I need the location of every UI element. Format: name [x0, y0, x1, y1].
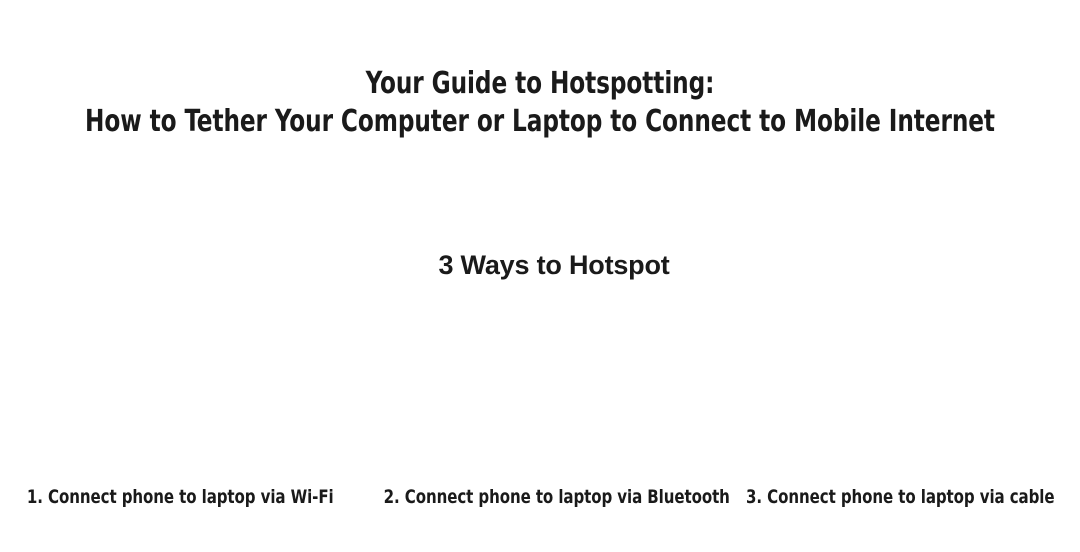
figure-caption-bluetooth: 2. Connect phone to laptop via Bluetooth — [384, 486, 730, 508]
caption-cell-3: 3. Connect phone to laptop via cable — [720, 486, 1080, 508]
article-body: Your Guide to Hotspotting: How to Tether… — [0, 0, 1080, 552]
figure-row — [0, 290, 1080, 480]
section-heading: 3 Ways to Hotspot — [0, 249, 1080, 281]
figure-image-bluetooth — [360, 290, 720, 480]
caption-row: 1. Connect phone to laptop via Wi-Fi 2. … — [0, 486, 1080, 508]
figure-cell-3 — [720, 290, 1080, 480]
figure-cell-2 — [360, 290, 720, 480]
page-title-line-2: How to Tether Your Computer or Laptop to… — [76, 103, 1005, 141]
figure-cell-1 — [0, 290, 360, 480]
figure-caption-cable: 3. Connect phone to laptop via cable — [746, 486, 1054, 508]
caption-cell-2: 2. Connect phone to laptop via Bluetooth — [360, 486, 720, 508]
page-title-line-1: Your Guide to Hotspotting: — [76, 65, 1005, 103]
caption-cell-1: 1. Connect phone to laptop via Wi-Fi — [0, 486, 360, 508]
figure-caption-wifi: 1. Connect phone to laptop via Wi-Fi — [27, 486, 334, 508]
figure-image-cable — [720, 290, 1080, 480]
figure-image-wifi — [0, 290, 360, 480]
page-title: Your Guide to Hotspotting: How to Tether… — [0, 65, 1080, 141]
